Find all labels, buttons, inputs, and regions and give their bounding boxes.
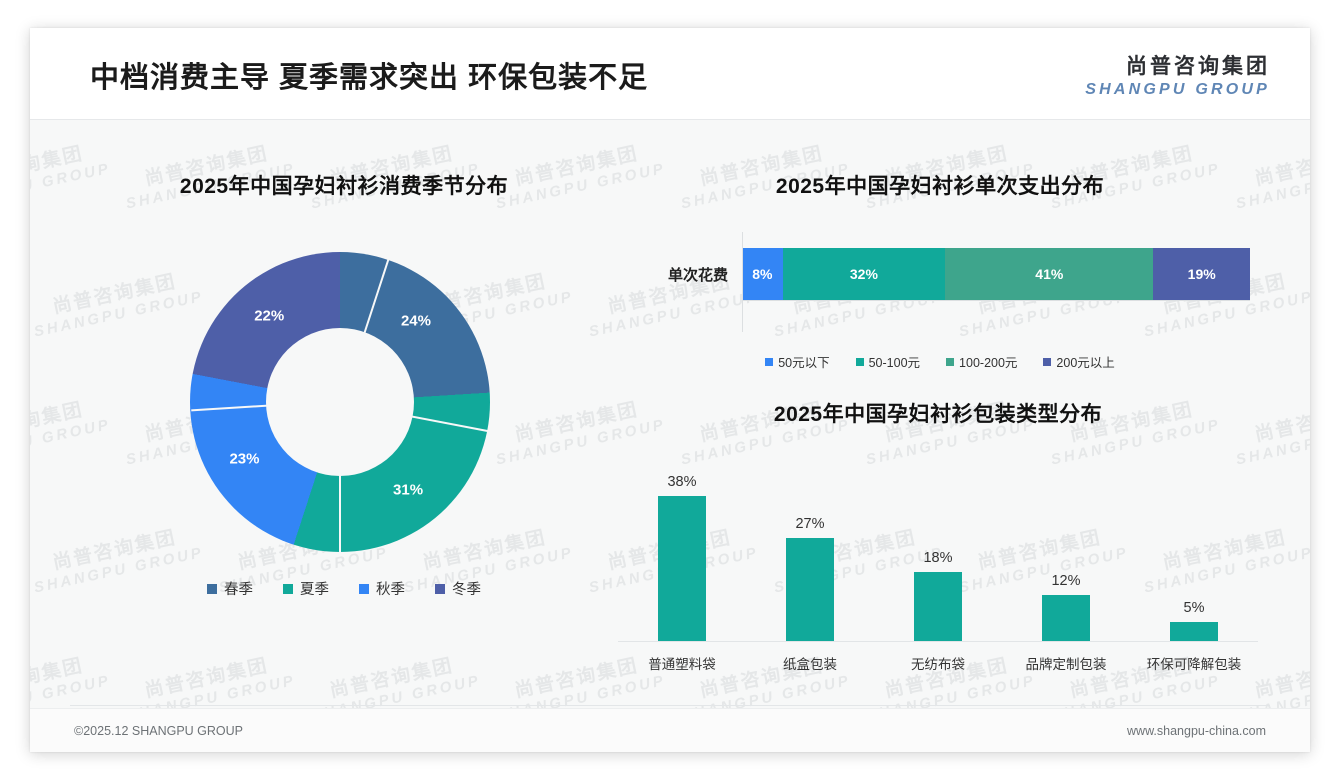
donut-slice-separator xyxy=(339,402,341,552)
brand-logo: 尚普咨询集团 SHANGPU GROUP xyxy=(1085,50,1270,99)
legend-label: 春季 xyxy=(224,578,253,599)
slide-page: 尚普咨询集团SHANGPU GROUP尚普咨询集团SHANGPU GROUP尚普… xyxy=(0,0,1340,780)
donut-slice-separator xyxy=(191,400,341,411)
legend-swatch xyxy=(283,584,293,594)
bar-value-label: 27% xyxy=(795,516,824,532)
bar-column[interactable]: 27% xyxy=(755,462,865,641)
donut-chart: 24%31%23%22% xyxy=(190,252,490,552)
bar-rectangle[interactable] xyxy=(786,538,834,641)
bar-value-label: 12% xyxy=(1051,573,1080,589)
donut-slice-separator xyxy=(341,402,489,432)
bar-category-label: 普通塑料袋 xyxy=(627,653,737,673)
stacked-bar-legend: 50元以下50-100元100-200元200元以上 xyxy=(630,352,1250,371)
stacked-legend-item[interactable]: 50-100元 xyxy=(856,352,920,371)
legend-swatch xyxy=(435,584,445,594)
bar-chart-plot: 38%27%18%12%5% xyxy=(618,462,1258,642)
chart-title-season: 2025年中国孕妇衬衫消费季节分布 xyxy=(70,170,610,200)
legend-label: 50-100元 xyxy=(869,352,920,371)
stacked-bar-category-label: 单次花费 xyxy=(630,264,742,285)
slide-body: 2025年中国孕妇衬衫消费季节分布 24%31%23%22% 春季夏季秋季冬季 … xyxy=(30,120,1310,694)
bar-category-label: 品牌定制包装 xyxy=(1011,653,1121,673)
donut-legend-item[interactable]: 春季 xyxy=(207,578,253,599)
bar-rectangle[interactable] xyxy=(658,496,706,641)
donut-slice-label: 31% xyxy=(393,481,423,498)
stacked-legend-item[interactable]: 100-200元 xyxy=(946,352,1017,371)
stacked-bar-segment[interactable]: 8% xyxy=(742,248,783,300)
slide-footer: ©2025.12 SHANGPU GROUP www.shangpu-china… xyxy=(30,708,1310,752)
donut-legend-item[interactable]: 夏季 xyxy=(283,578,329,599)
legend-swatch xyxy=(207,584,217,594)
stacked-bar-segment[interactable]: 32% xyxy=(783,248,946,300)
bar-chart-category-axis: 普通塑料袋纸盒包装无纺布袋品牌定制包装环保可降解包装 xyxy=(618,653,1258,673)
bar-column[interactable]: 12% xyxy=(1011,462,1121,641)
legend-swatch xyxy=(359,584,369,594)
stacked-bar-segment[interactable]: 41% xyxy=(945,248,1153,300)
chart-panel-season-donut: 2025年中国孕妇衬衫消费季节分布 24%31%23%22% 春季夏季秋季冬季 xyxy=(70,170,610,599)
stacked-bar-segment[interactable]: 19% xyxy=(1153,248,1250,300)
bar-rectangle[interactable] xyxy=(914,572,962,641)
slide-header: 中档消费主导 夏季需求突出 环保包装不足 尚普咨询集团 SHANGPU GROU… xyxy=(30,28,1310,120)
legend-label: 200元以上 xyxy=(1056,352,1114,371)
donut-slice-separator xyxy=(341,259,389,402)
donut-legend-item[interactable]: 秋季 xyxy=(359,578,405,599)
legend-label: 秋季 xyxy=(376,578,405,599)
legend-swatch xyxy=(856,358,864,366)
donut-ring xyxy=(190,252,490,552)
donut-slice-label: 24% xyxy=(401,313,431,330)
legend-label: 100-200元 xyxy=(959,352,1017,371)
legend-label: 夏季 xyxy=(300,578,329,599)
chart-title-packaging: 2025年中国孕妇衬衫包装类型分布 xyxy=(618,398,1258,428)
bar-category-label: 无纺布袋 xyxy=(883,653,993,673)
bar-rectangle[interactable] xyxy=(1042,595,1090,641)
bar-column[interactable]: 5% xyxy=(1139,462,1249,641)
donut-legend: 春季夏季秋季冬季 xyxy=(70,578,610,599)
chart-panel-spend-stacked: 2025年中国孕妇衬衫单次支出分布 单次花费 8%32%41%19% 50元以下… xyxy=(630,170,1250,371)
bar-category-label: 环保可降解包装 xyxy=(1139,653,1249,673)
stacked-legend-item[interactable]: 200元以上 xyxy=(1043,352,1114,371)
website-link[interactable]: www.shangpu-china.com xyxy=(1127,724,1266,738)
bar-column[interactable]: 38% xyxy=(627,462,737,641)
legend-swatch xyxy=(1043,358,1051,366)
legend-swatch xyxy=(765,358,773,366)
bar-value-label: 5% xyxy=(1184,600,1205,616)
bar-column[interactable]: 18% xyxy=(883,462,993,641)
stacked-legend-item[interactable]: 50元以下 xyxy=(765,352,829,371)
legend-swatch xyxy=(946,358,954,366)
donut-slice-label: 22% xyxy=(254,308,284,325)
donut-legend-item[interactable]: 冬季 xyxy=(435,578,481,599)
chart-title-spend: 2025年中国孕妇衬衫单次支出分布 xyxy=(630,170,1250,200)
legend-label: 冬季 xyxy=(452,578,481,599)
stacked-axis-x xyxy=(742,300,1250,301)
donut-slice-label: 23% xyxy=(229,450,259,467)
bar-category-label: 纸盒包装 xyxy=(755,653,865,673)
copyright-text: ©2025.12 SHANGPU GROUP xyxy=(74,724,243,738)
slide-card: 尚普咨询集团SHANGPU GROUP尚普咨询集团SHANGPU GROUP尚普… xyxy=(30,28,1310,752)
logo-english-text: SHANGPU GROUP xyxy=(1085,81,1270,99)
stacked-bar: 8%32%41%19% xyxy=(742,248,1250,300)
stacked-bar-row: 单次花费 8%32%41%19% xyxy=(630,248,1250,300)
bar-value-label: 38% xyxy=(667,474,696,490)
bar-rectangle[interactable] xyxy=(1170,622,1218,641)
chart-panel-packaging-bars: 2025年中国孕妇衬衫包装类型分布 38%27%18%12%5% 普通塑料袋纸盒… xyxy=(618,398,1258,673)
stacked-axis-y xyxy=(742,232,743,332)
page-title: 中档消费主导 夏季需求突出 环保包装不足 xyxy=(90,54,648,96)
logo-chinese-text: 尚普咨询集团 xyxy=(1085,50,1270,80)
bar-value-label: 18% xyxy=(923,550,952,566)
legend-label: 50元以下 xyxy=(778,352,829,371)
